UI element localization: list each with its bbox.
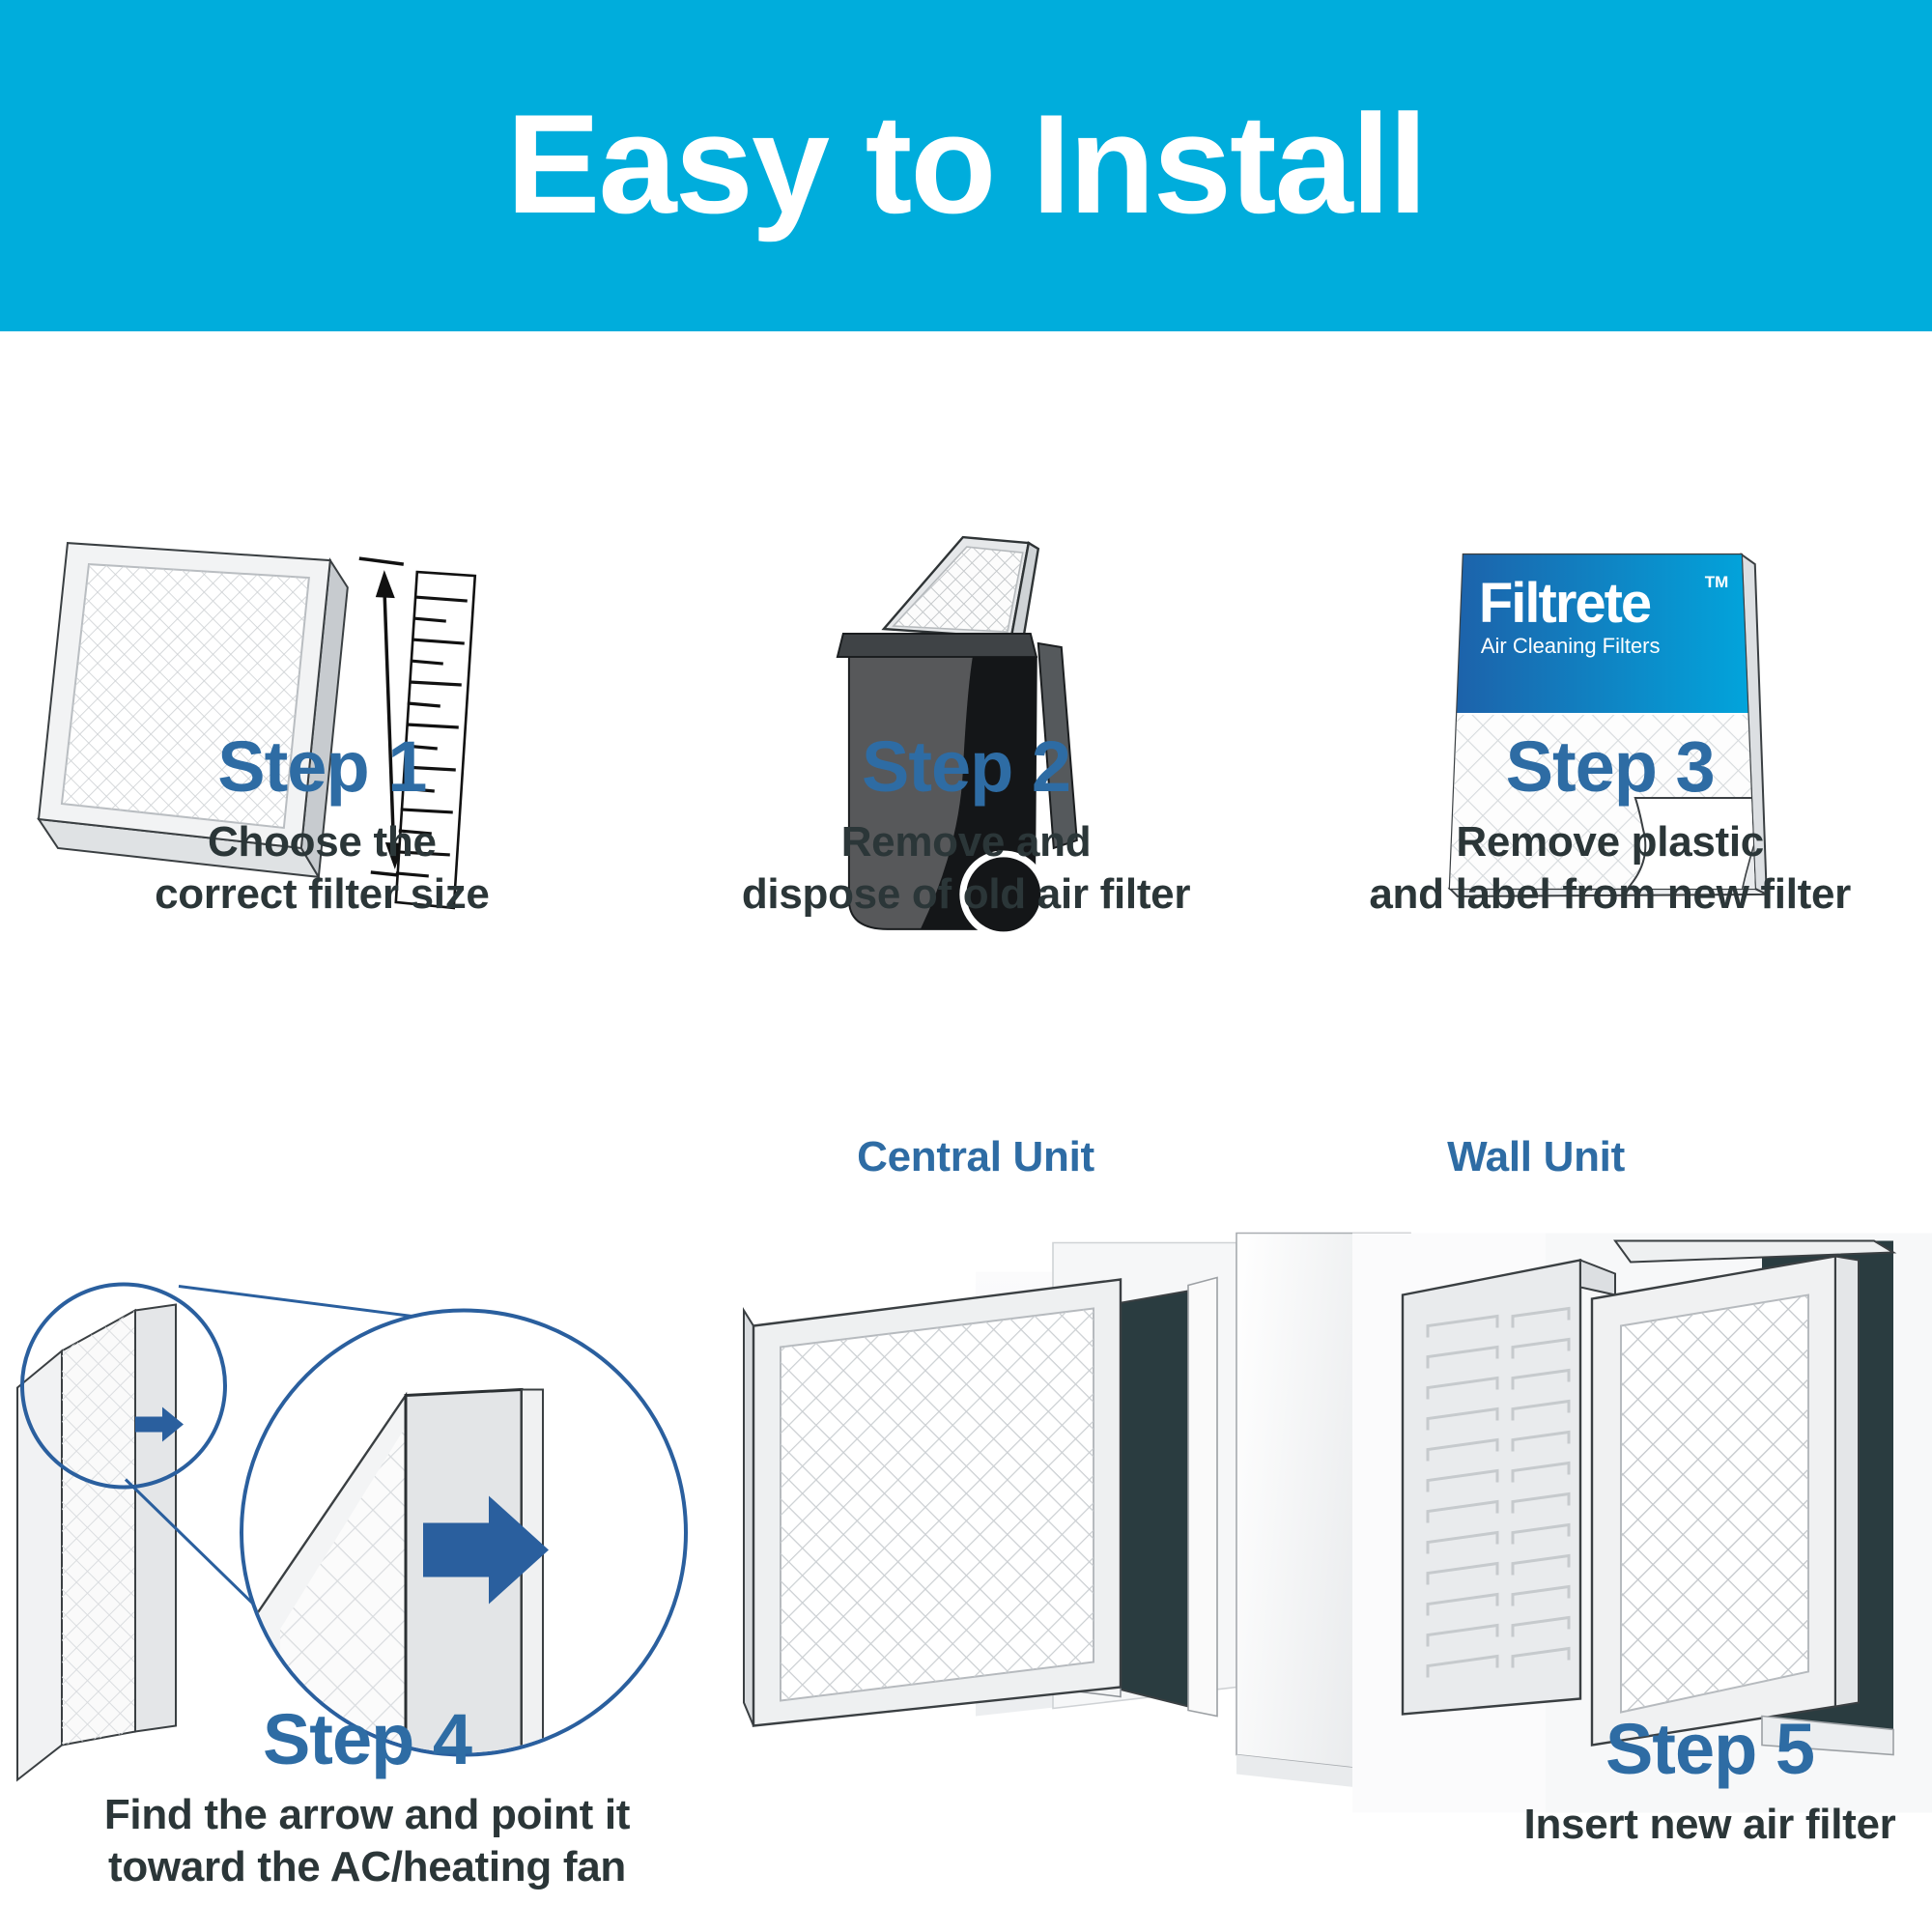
brand-name: Filtrete [1479,573,1651,635]
page-title: Easy to Install [506,94,1426,235]
step-4-caption: Step 4 Find the arrow and point it towar… [0,1703,734,1893]
central-unit-scene [744,1234,1410,1794]
step-2-cell: Step 2 Remove and dispose of old air fil… [644,331,1289,1133]
step-1-cell: Step 1 Choose the correct filter size [0,331,644,1133]
step-4-description-line1: Find the arrow and point it [104,1791,630,1838]
step-1-description-line1: Choose the [208,818,437,866]
step-2-caption: Step 2 Remove and dispose of old air fil… [644,730,1289,921]
central-unit-filter [744,1280,1121,1726]
step-4-description: Find the arrow and point it toward the A… [0,1789,734,1892]
trademark-symbol: TM [1705,573,1729,591]
header-banner: Easy to Install [0,0,1932,331]
wall-unit-louvered-door [1403,1261,1580,1715]
step-3-description-line2: and label from new filter [1369,870,1851,918]
step-4-description-line2: toward the AC/heating fan [108,1843,626,1890]
step-1-description: Choose the correct filter size [0,816,644,920]
old-air-filter [884,537,1038,641]
step-2-title: Step 2 [644,730,1289,803]
arrow-head-up [376,570,395,598]
step-3-description: Remove plastic and label from new filter [1288,816,1932,920]
step-1-description-line2: correct filter size [155,870,489,918]
step-3-caption: Step 3 Remove plastic and label from new… [1288,730,1932,921]
step-1-title: Step 1 [0,730,644,803]
step-5-title: Step 5 [1372,1713,1932,1785]
step-3-description-line1: Remove plastic [1456,818,1764,866]
central-unit-label: Central Unit [676,1133,1275,1181]
easy-to-install-infographic: Easy to Install [0,0,1932,1932]
wall-unit-label: Wall Unit [1236,1133,1835,1181]
step-5-description: Insert new air filter [1372,1799,1932,1851]
step-5-description-line1: Insert new air filter [1524,1801,1896,1848]
step-2-description: Remove and dispose of old air filter [644,816,1289,920]
steps-row-top: Step 1 Choose the correct filter size [0,331,1932,1133]
step-5-cell: Central Unit Wall Unit Step 5 Insert new… [734,1133,1932,1932]
step-4-title: Step 4 [0,1703,734,1776]
bin-lid [838,634,1037,657]
step-2-description-line1: Remove and [841,818,1092,866]
brand-tagline: Air Cleaning Filters [1481,634,1661,658]
wall-unit-filter [1592,1257,1859,1746]
step-4-cell: Step 4 Find the arrow and point it towar… [0,1133,734,1932]
step-5-caption: Step 5 Insert new air filter [1372,1713,1932,1851]
step-3-cell: Filtrete TM Air Cleaning Filters Step 3 … [1288,331,1932,1133]
step-2-description-line2: dispose of old air filter [742,870,1190,918]
steps-row-bottom: Step 4 Find the arrow and point it towar… [0,1133,1932,1932]
step-1-caption: Step 1 Choose the correct filter size [0,730,644,921]
step-3-title: Step 3 [1288,730,1932,803]
